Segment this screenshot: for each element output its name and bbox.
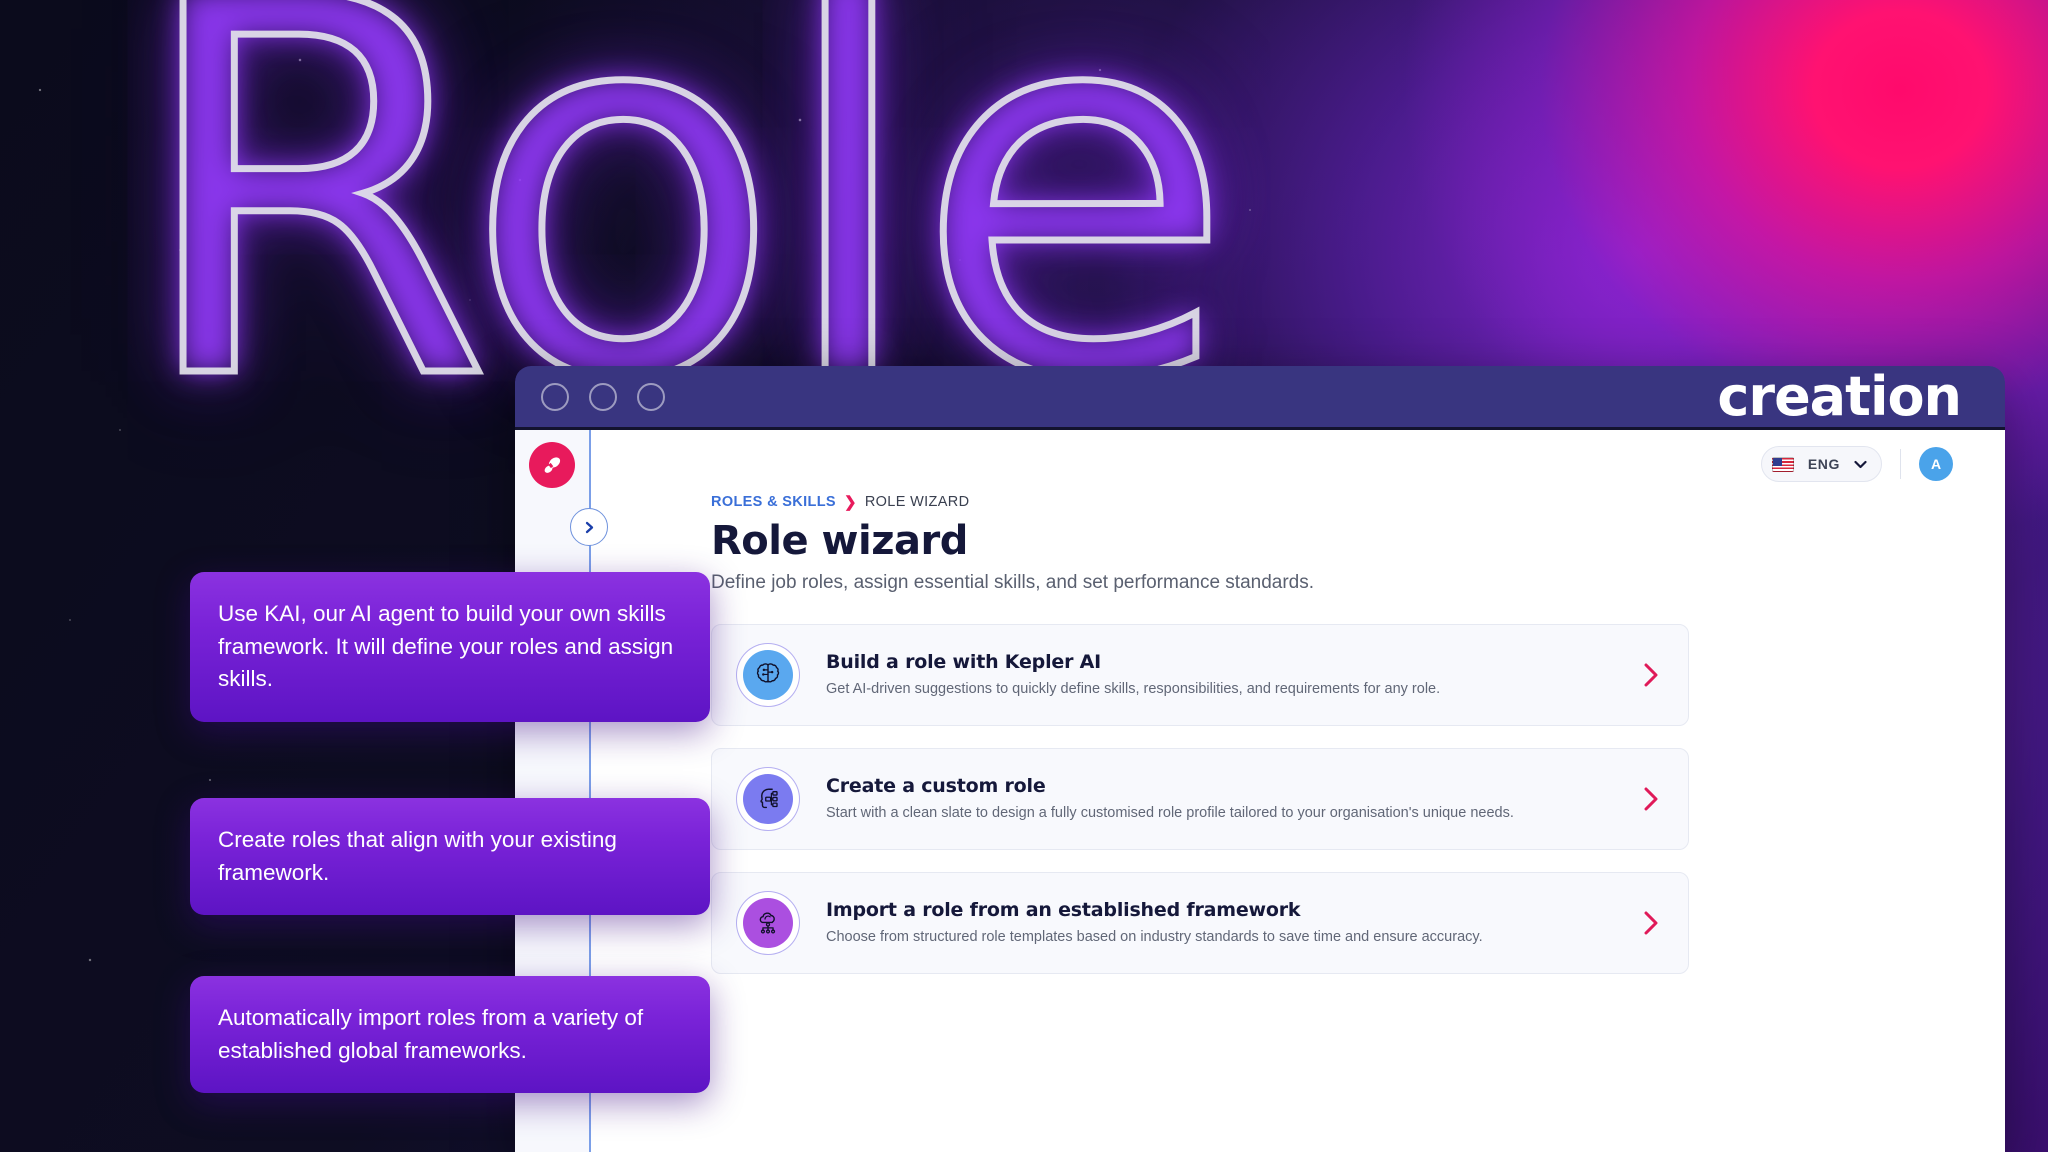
role-option-card[interactable]: Build a role with Kepler AI Get AI-drive… — [711, 624, 1689, 726]
role-option-list: Build a role with Kepler AI Get AI-drive… — [711, 624, 1971, 974]
window-dot-close[interactable] — [541, 383, 569, 411]
icon-ring — [736, 891, 800, 955]
topbar-divider — [1900, 449, 1901, 479]
window-titlebar: creation — [515, 366, 2005, 430]
app-body: ENG A ROLES & SKILLS ❯ ROLE WIZARD Rol — [515, 430, 2005, 1152]
feature-callout: Automatically import roles from a variet… — [190, 976, 710, 1093]
feature-callout: Create roles that align with your existi… — [190, 798, 710, 915]
page-content: ROLES & SKILLS ❯ ROLE WIZARD Role wizard… — [591, 486, 1971, 974]
language-selector[interactable]: ENG — [1761, 446, 1882, 482]
window-dot-minimize[interactable] — [589, 383, 617, 411]
card-text: Import a role from an established framew… — [826, 899, 1604, 948]
cloud-network-icon — [743, 898, 793, 948]
icon-ring — [736, 767, 800, 831]
card-arrow-button[interactable] — [1630, 660, 1662, 690]
window-controls[interactable] — [541, 383, 665, 411]
us-flag-icon — [1772, 457, 1794, 472]
icon-ring — [736, 643, 800, 707]
chevron-right-icon: ❯ — [844, 495, 857, 510]
card-arrow-button[interactable] — [1630, 908, 1662, 938]
page-title: Role wizard — [711, 518, 1971, 564]
brain-icon — [743, 650, 793, 700]
page-background: Role creation — [0, 0, 2048, 1152]
card-description: Get AI-driven suggestions to quickly def… — [826, 680, 1604, 700]
language-label: ENG — [1808, 456, 1840, 472]
card-arrow-button[interactable] — [1630, 784, 1662, 814]
kepler-logo-icon[interactable] — [529, 442, 575, 488]
card-description: Choose from structured role templates ba… — [826, 928, 1604, 948]
chevron-right-icon — [1640, 660, 1662, 690]
breadcrumb-current: ROLE WIZARD — [865, 494, 970, 510]
card-text: Create a custom role Start with a clean … — [826, 775, 1604, 824]
window-dot-maximize[interactable] — [637, 383, 665, 411]
chevron-right-icon — [1640, 908, 1662, 938]
chevron-right-icon — [1640, 784, 1662, 814]
card-title: Create a custom role — [826, 775, 1604, 797]
card-description: Start with a clean slate to design a ful… — [826, 804, 1604, 824]
page-subtitle: Define job roles, assign essential skill… — [711, 572, 1971, 594]
head-org-chart-icon — [743, 774, 793, 824]
app-window: creation — [515, 366, 2005, 1152]
avatar[interactable]: A — [1919, 447, 1953, 481]
chevron-right-icon — [582, 520, 597, 535]
breadcrumb-parent-link[interactable]: ROLES & SKILLS — [711, 494, 836, 510]
card-text: Build a role with Kepler AI Get AI-drive… — [826, 651, 1604, 700]
brand-word: creation — [1717, 370, 1983, 424]
breadcrumb: ROLES & SKILLS ❯ ROLE WIZARD — [711, 494, 1971, 510]
feature-callout: Use KAI, our AI agent to build your own … — [190, 572, 710, 722]
main-panel: ENG A ROLES & SKILLS ❯ ROLE WIZARD Rol — [591, 430, 2005, 1152]
card-title: Import a role from an established framew… — [826, 899, 1604, 921]
chevron-down-icon[interactable] — [1854, 460, 1867, 469]
role-option-card[interactable]: Create a custom role Start with a clean … — [711, 748, 1689, 850]
sidebar-expand-button[interactable] — [570, 508, 608, 546]
top-bar: ENG A — [591, 430, 1971, 486]
role-option-card[interactable]: Import a role from an established framew… — [711, 872, 1689, 974]
card-title: Build a role with Kepler AI — [826, 651, 1604, 673]
